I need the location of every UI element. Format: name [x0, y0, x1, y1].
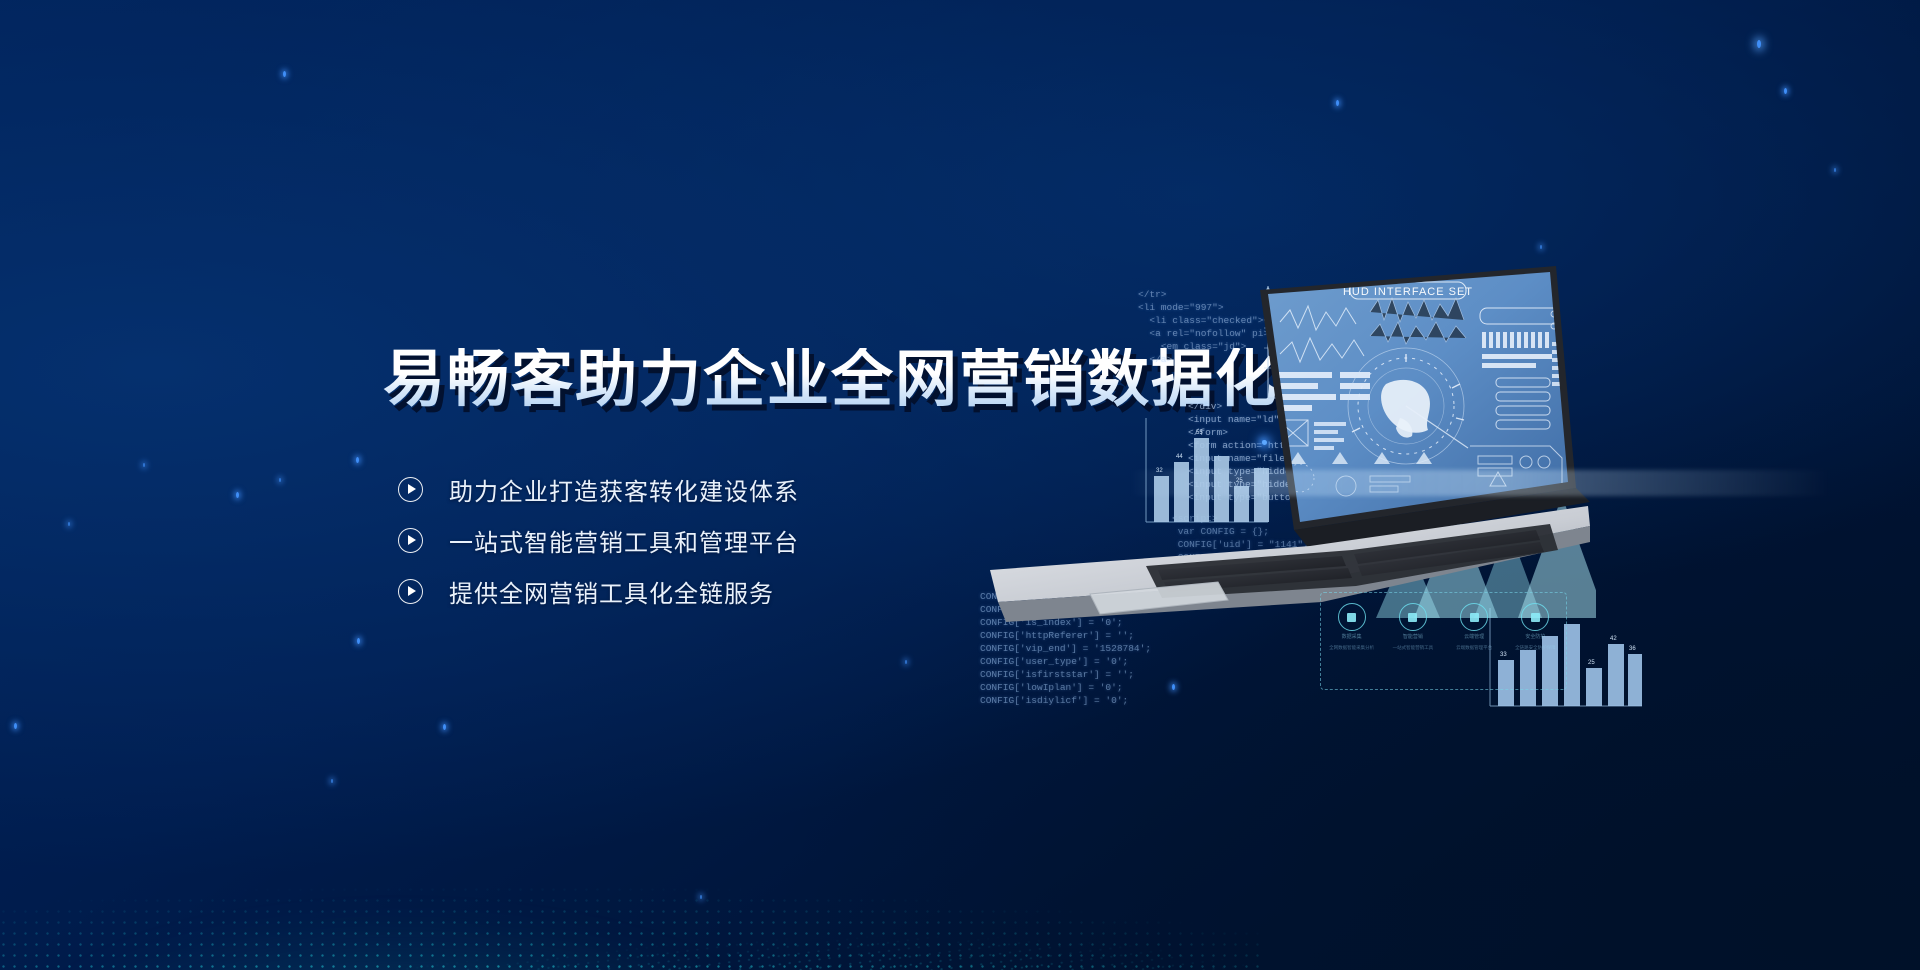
play-circle-icon — [398, 579, 423, 604]
feature-list: 助力企业打造获客转化建设体系 一站式智能营销工具和管理平台 提供全网营销工具化全… — [398, 468, 799, 621]
feature-label: 一站式智能营销工具和管理平台 — [449, 523, 799, 558]
badge-label: 数据采集 — [1342, 633, 1362, 640]
lock-badge-icon — [1521, 603, 1549, 631]
svg-text:36: 36 — [1629, 646, 1636, 652]
play-circle-icon — [398, 528, 423, 553]
hero-banner: 易畅客助力企业全网营销数据化 助力企业打造获客转化建设体系 一站式智能营销工具和… — [0, 0, 1920, 970]
device-badge-icon — [1399, 603, 1427, 631]
badge-caption: 全网数据智能采集分析 — [1328, 645, 1376, 651]
glow-accent-dot — [1262, 440, 1267, 445]
particle-dot — [1757, 40, 1761, 48]
cloud-badge-icon — [1460, 603, 1488, 631]
badge-label: 云端管理 — [1464, 633, 1484, 640]
screen-glare-band — [1130, 470, 1830, 496]
badge-label: 安全防护 — [1525, 633, 1545, 640]
badge-caption: 云端数据管理平台 — [1450, 645, 1498, 651]
feature-badge-group: 数据采集 智能营销 云端管理 安全防护 全网数据智能采集分析 一站式智能营销工具… — [1320, 592, 1567, 690]
particle-dot — [1834, 168, 1836, 172]
list-item: 一站式智能营销工具和管理平台 — [398, 519, 799, 561]
list-item: 助力企业打造获客转化建设体系 — [398, 468, 799, 510]
feature-label: 提供全网营销工具化全链服务 — [449, 574, 774, 609]
badge-label: 智能营销 — [1403, 633, 1423, 640]
list-item: 提供全网营销工具化全链服务 — [398, 570, 799, 612]
badge-caption: 全链路安全防护保障 — [1511, 645, 1559, 651]
particle-dot — [68, 522, 70, 526]
play-circle-icon — [398, 477, 423, 502]
particle-dot — [1784, 88, 1787, 94]
badge-caption: 一站式智能营销工具 — [1389, 645, 1437, 651]
feature-label: 助力企业打造获客转化建设体系 — [449, 472, 799, 507]
particle-dot — [1336, 100, 1339, 106]
particle-dot — [1540, 245, 1542, 249]
hud-title: HUD INTERFACE SET — [1343, 286, 1473, 298]
particle-dot — [283, 71, 286, 77]
particle-dot — [356, 457, 359, 463]
chart-badge-icon — [1338, 603, 1366, 631]
particle-dot — [236, 492, 239, 498]
svg-text:42: 42 — [1610, 636, 1617, 642]
particle-dot — [279, 478, 281, 482]
particle-dot — [143, 463, 145, 467]
